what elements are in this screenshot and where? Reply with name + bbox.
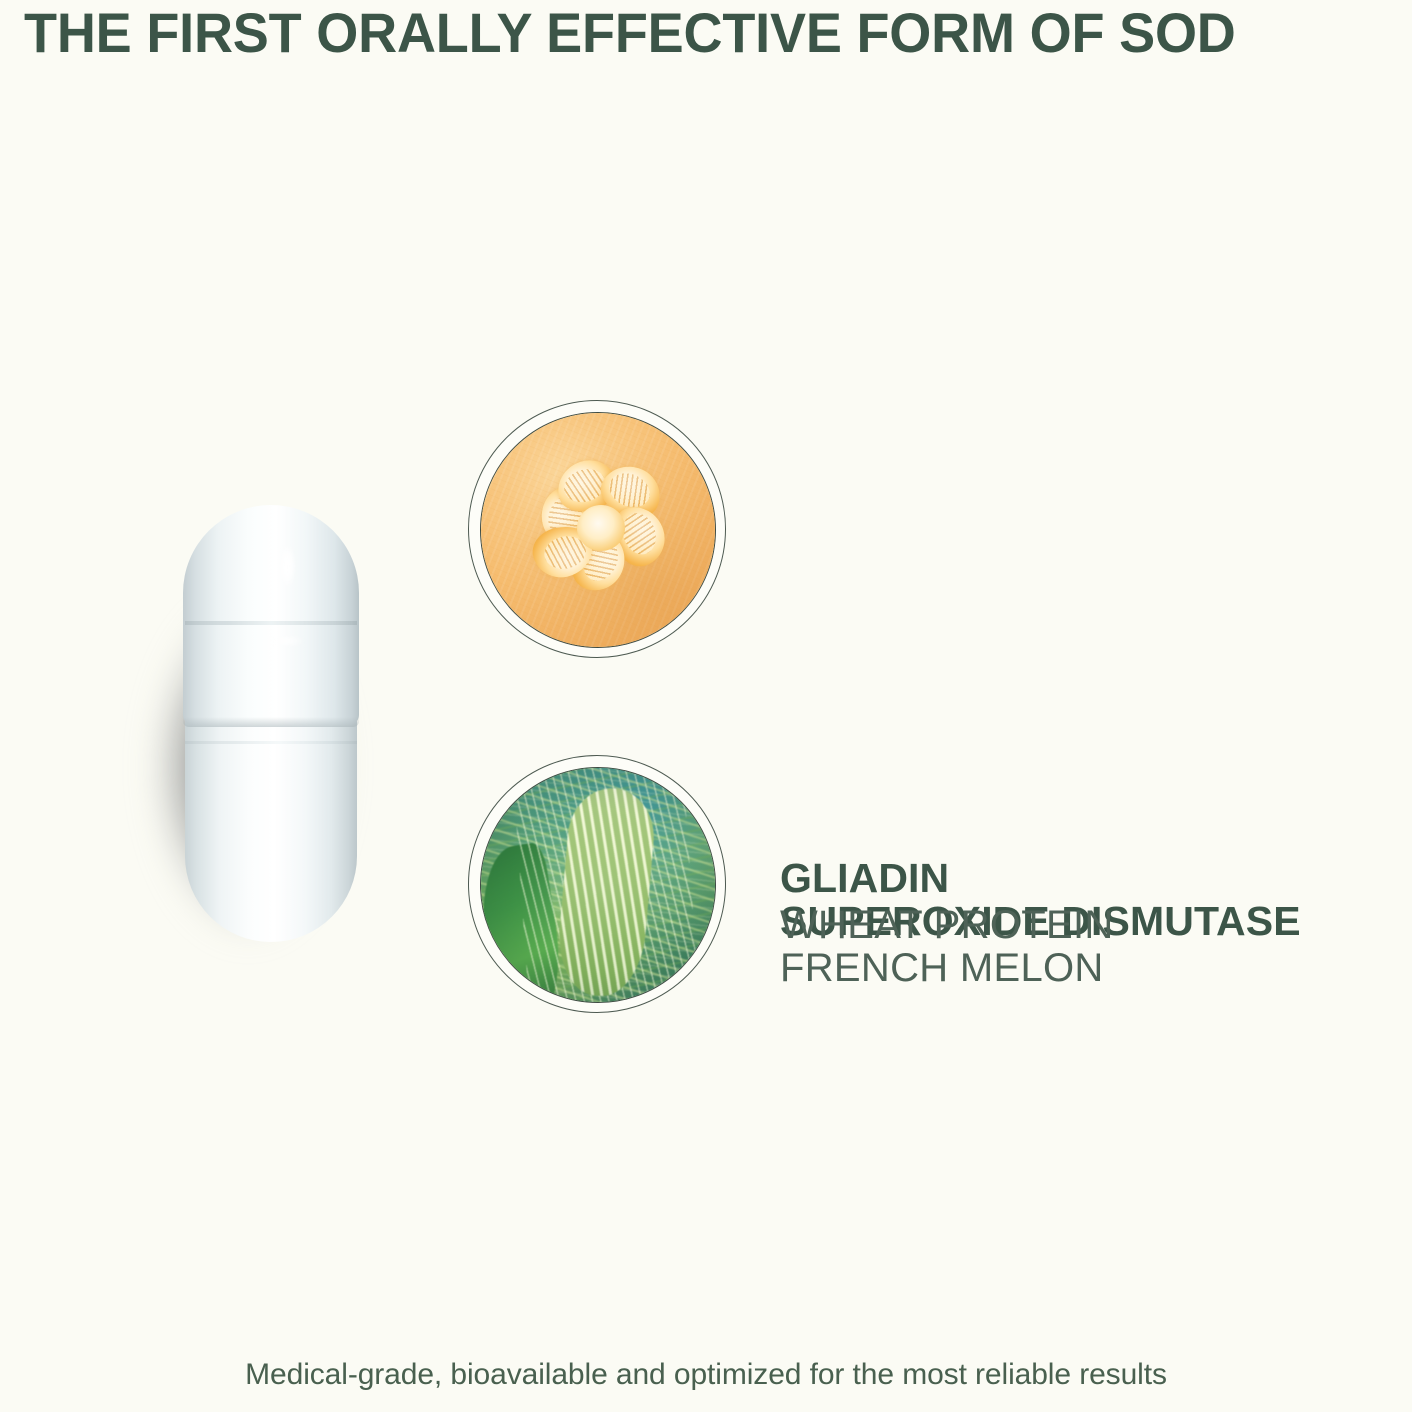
ingredient-label-gliadin: GLIADIN WHEAT PROTEIN [780, 855, 1114, 949]
infographic-canvas: THE FIRST ORALLY EFFECTIVE FORM OF SOD [0, 0, 1412, 1412]
wheat-vignette [481, 768, 715, 1002]
footer-caption: Medical-grade, bioavailable and optimize… [0, 1358, 1412, 1392]
wheat-circle-frame [468, 755, 726, 1013]
capsule-image [155, 505, 415, 945]
capsule-icon [185, 505, 357, 942]
ingredient-source: FRENCH MELON [780, 944, 1301, 992]
capsule-highlight [279, 543, 296, 589]
green-wheat-image [480, 767, 716, 1003]
capsule-midline [185, 741, 357, 744]
melon-circle-frame [468, 400, 726, 658]
capsule-cap-edge [183, 717, 359, 727]
page-title: THE FIRST ORALLY EFFECTIVE FORM OF SOD [24, 2, 1336, 64]
melon-cross-section-image [480, 412, 716, 648]
capsule-secondary-highlight [269, 635, 305, 647]
melon-seed-core [577, 505, 625, 551]
melon-seed-cavity [535, 465, 667, 593]
ingredient-source: WHEAT PROTEIN [780, 901, 1114, 949]
capsule-cap [183, 505, 359, 725]
ingredient-title: GLIADIN [780, 855, 1114, 901]
capsule-seam [185, 621, 357, 625]
